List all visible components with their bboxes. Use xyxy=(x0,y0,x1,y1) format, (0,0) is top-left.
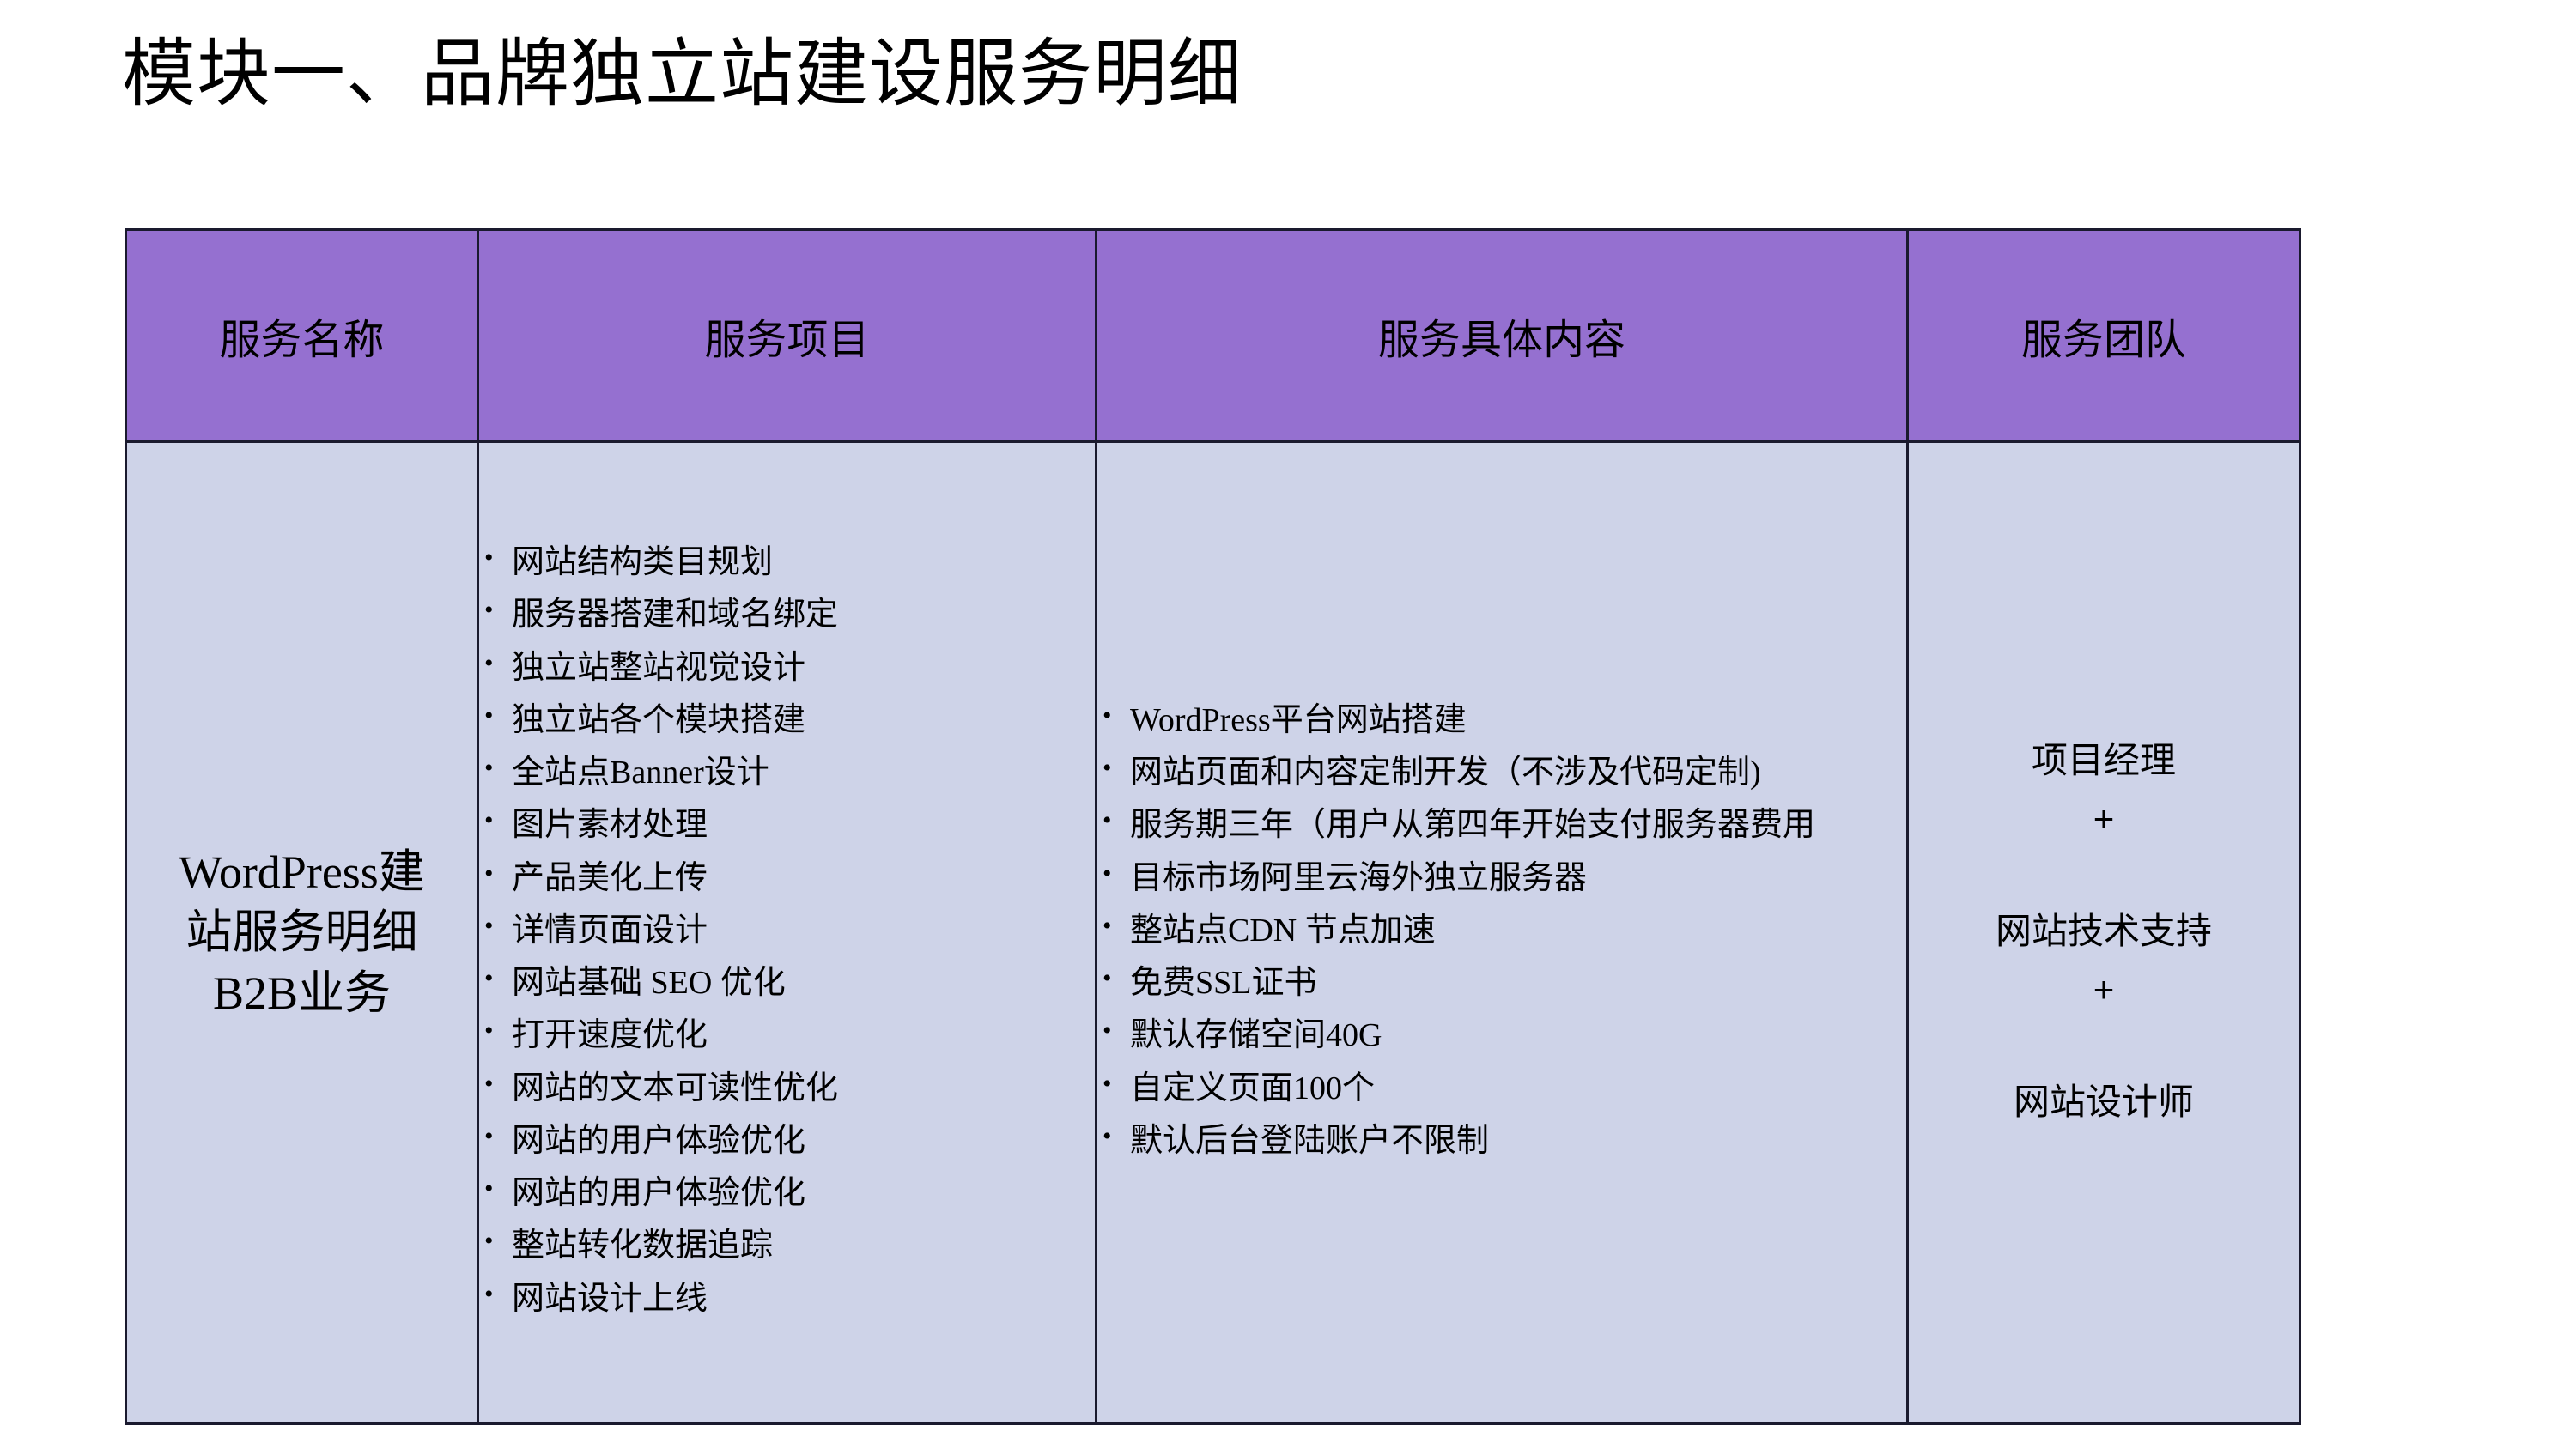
list-item: 目标市场阿里云海外独立服务器 xyxy=(1097,854,1906,902)
list-item: 整站点CDN 节点加速 xyxy=(1097,906,1906,955)
cell-service-details: WordPress平台网站搭建 网站页面和内容定制开发（不涉及代码定制) 服务期… xyxy=(1097,442,1908,1424)
list-item: 详情页面设计 xyxy=(479,906,1095,955)
list-item: 网站的用户体验优化 xyxy=(479,1117,1095,1165)
cell-service-items: 网站结构类目规划 服务器搭建和域名绑定 独立站整站视觉设计 独立站各个模块搭建 … xyxy=(478,442,1097,1424)
service-detail-table: 服务名称 服务项目 服务具体内容 服务团队 WordPress建 站服务明细 B… xyxy=(125,228,2301,1425)
table-row: WordPress建 站服务明细 B2B业务 网站结构类目规划 服务器搭建和域名… xyxy=(126,442,2300,1424)
team-role: 网站设计师 xyxy=(1909,1075,2299,1131)
page-title: 模块一、品牌独立站建设服务明细 xyxy=(122,33,1242,115)
list-item: 独立站整站视觉设计 xyxy=(479,644,1095,692)
list-item: 全站点Banner设计 xyxy=(479,749,1095,797)
table-body: WordPress建 站服务明细 B2B业务 网站结构类目规划 服务器搭建和域名… xyxy=(126,442,2300,1424)
team-plus: + xyxy=(1909,791,2299,847)
service-item-list: 网站结构类目规划 服务器搭建和域名绑定 独立站整站视觉设计 独立站各个模块搭建 … xyxy=(479,538,1095,1323)
team-spacer xyxy=(1909,847,2299,904)
column-header-service-item: 服务项目 xyxy=(478,230,1097,442)
list-item: 网站结构类目规划 xyxy=(479,538,1095,586)
list-item: 自定义页面100个 xyxy=(1097,1064,1906,1113)
list-item: 默认存储空间40G xyxy=(1097,1011,1906,1059)
list-item: 图片素材处理 xyxy=(479,801,1095,849)
table-header-row: 服务名称 服务项目 服务具体内容 服务团队 xyxy=(126,230,2300,442)
list-item: 默认后台登陆账户不限制 xyxy=(1097,1117,1906,1165)
list-item: 网站基础 SEO 优化 xyxy=(479,959,1095,1007)
team-role: 网站技术支持 xyxy=(1909,904,2299,961)
column-header-service-team: 服务团队 xyxy=(1908,230,2300,442)
column-header-service-name: 服务名称 xyxy=(126,230,478,442)
list-item: WordPress平台网站搭建 xyxy=(1097,696,1906,744)
list-item: 产品美化上传 xyxy=(479,854,1095,902)
list-item: 服务期三年（用户从第四年开始支付服务器费用 xyxy=(1097,801,1906,849)
team-role: 项目经理 xyxy=(1909,733,2299,790)
list-item: 打开速度优化 xyxy=(479,1011,1095,1059)
team-plus: + xyxy=(1909,961,2299,1018)
list-item: 独立站各个模块搭建 xyxy=(479,696,1095,744)
column-header-service-detail: 服务具体内容 xyxy=(1097,230,1908,442)
list-item: 网站的用户体验优化 xyxy=(479,1169,1095,1217)
list-item: 网站的文本可读性优化 xyxy=(479,1064,1095,1113)
service-name-line: B2B业务 xyxy=(127,963,477,1023)
service-name-line: 站服务明细 xyxy=(127,902,477,962)
slide-canvas: 模块一、品牌独立站建设服务明细 服务名称 服务项目 服务具体内容 服务团队 Wo… xyxy=(0,0,2576,1449)
table-header: 服务名称 服务项目 服务具体内容 服务团队 xyxy=(126,230,2300,442)
cell-service-team: 项目经理 + 网站技术支持 + 网站设计师 xyxy=(1908,442,2300,1424)
team-spacer xyxy=(1909,1018,2299,1075)
list-item: 网站页面和内容定制开发（不涉及代码定制) xyxy=(1097,749,1906,797)
list-item: 服务器搭建和域名绑定 xyxy=(479,591,1095,639)
list-item: 免费SSL证书 xyxy=(1097,959,1906,1007)
list-item: 整站转化数据追踪 xyxy=(479,1222,1095,1270)
cell-service-name: WordPress建 站服务明细 B2B业务 xyxy=(126,442,478,1424)
service-detail-list: WordPress平台网站搭建 网站页面和内容定制开发（不涉及代码定制) 服务期… xyxy=(1097,696,1906,1165)
list-item: 网站设计上线 xyxy=(479,1275,1095,1323)
service-name-line: WordPress建 xyxy=(127,842,477,902)
